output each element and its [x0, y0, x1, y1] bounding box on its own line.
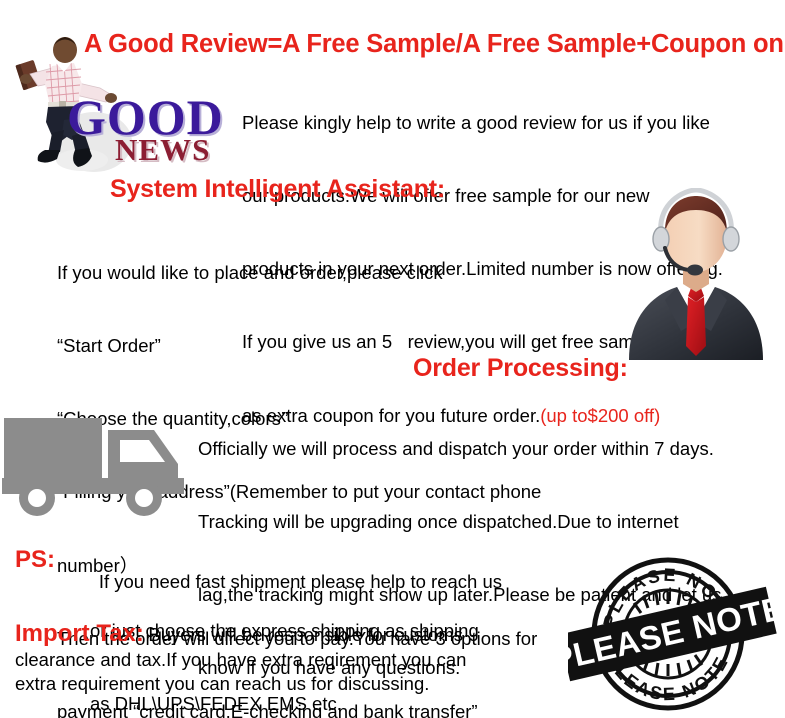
- page-headline: A Good Review=A Free Sample/A Free Sampl…: [84, 29, 784, 59]
- order-line-1: Officially we will process and dispatch …: [198, 437, 783, 461]
- import-tax-line-2: clearance and tax.If you have extra reqi…: [15, 648, 535, 672]
- assistant-line-1: If you would like to place and order,ple…: [57, 261, 627, 285]
- delivery-truck-icon: [2, 412, 194, 518]
- import-tax-first-line: Import Tax: Buyers will be responsible f…: [15, 620, 535, 648]
- order-processing-heading: Order Processing:: [413, 353, 628, 383]
- support-agent-headset-illustration: [607, 188, 785, 360]
- import-tax-block: Import Tax: Buyers will be responsible f…: [15, 620, 535, 697]
- good-news-logo: GOOD NEWS: [57, 92, 232, 170]
- order-line-2: Tracking will be upgrading once dispatch…: [198, 510, 783, 534]
- ps-label: PS:: [15, 546, 55, 574]
- import-tax-label: Import Tax:: [15, 620, 144, 647]
- promo-banner-page: GOOD NEWS A Good Review=A Free Sample/A …: [0, 0, 785, 718]
- please-note-stamp: PLEASE NOTE PLEASE NOTE PLEASE NOTE: [568, 542, 784, 714]
- ps-line-1: If you need fast shipment please help to…: [99, 571, 502, 592]
- assistant-section-heading: System Intelligent Assistant:: [110, 174, 445, 204]
- import-tax-line-3: extra requirement you can reach us for d…: [15, 672, 535, 696]
- logo-news-text: NEWS: [115, 134, 210, 165]
- intro-line-1: Please kingly help to write a good revie…: [242, 111, 785, 135]
- import-tax-line-1: Buyers will be responsible for customs: [148, 624, 463, 645]
